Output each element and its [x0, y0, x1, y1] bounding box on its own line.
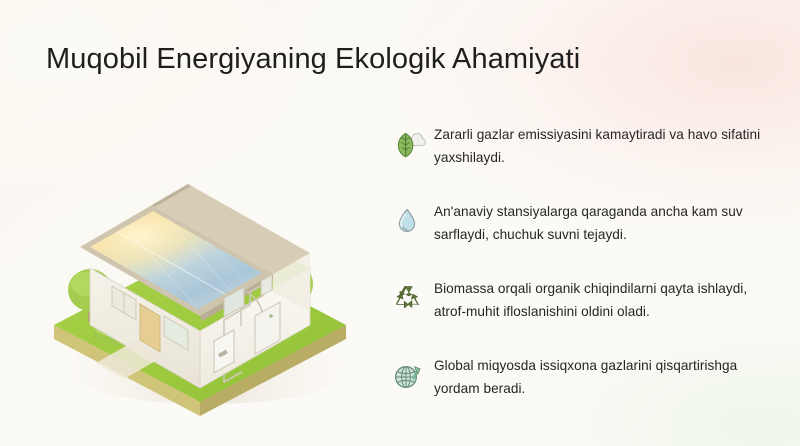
list-item: Biomassa orqali organik chiqindilarni qa…	[392, 278, 782, 330]
water-drop-icon	[392, 206, 426, 238]
globe-arrow-icon	[392, 360, 426, 392]
list-item: Zararli gazlar emissiyasini kamaytiradi …	[392, 124, 782, 176]
list-item-text: Global miqyosda issiqxona gazlarini qisq…	[434, 355, 782, 400]
list-item-text: An'anaviy stansiyalarga qaraganda ancha …	[434, 201, 782, 246]
list-item-text: Biomassa orqali organik chiqindilarni qa…	[434, 278, 782, 323]
slide-root: Muqobil Energiyaning Ekologik Ahamiyati	[0, 0, 800, 446]
list-item: An'anaviy stansiyalarga qaraganda ancha …	[392, 201, 782, 253]
list-item-text: Zararli gazlar emissiyasini kamaytiradi …	[434, 124, 782, 169]
leaf-cloud-icon	[392, 129, 426, 161]
page-title: Muqobil Energiyaning Ekologik Ahamiyati	[46, 41, 580, 77]
benefits-list: Zararli gazlar emissiyasini kamaytiradi …	[392, 124, 782, 407]
battery-indicator	[269, 314, 273, 318]
isometric-solar-house-illustration	[28, 120, 373, 420]
list-item: Global miqyosda issiqxona gazlarini qisq…	[392, 355, 782, 407]
recycle-icon	[392, 283, 426, 315]
